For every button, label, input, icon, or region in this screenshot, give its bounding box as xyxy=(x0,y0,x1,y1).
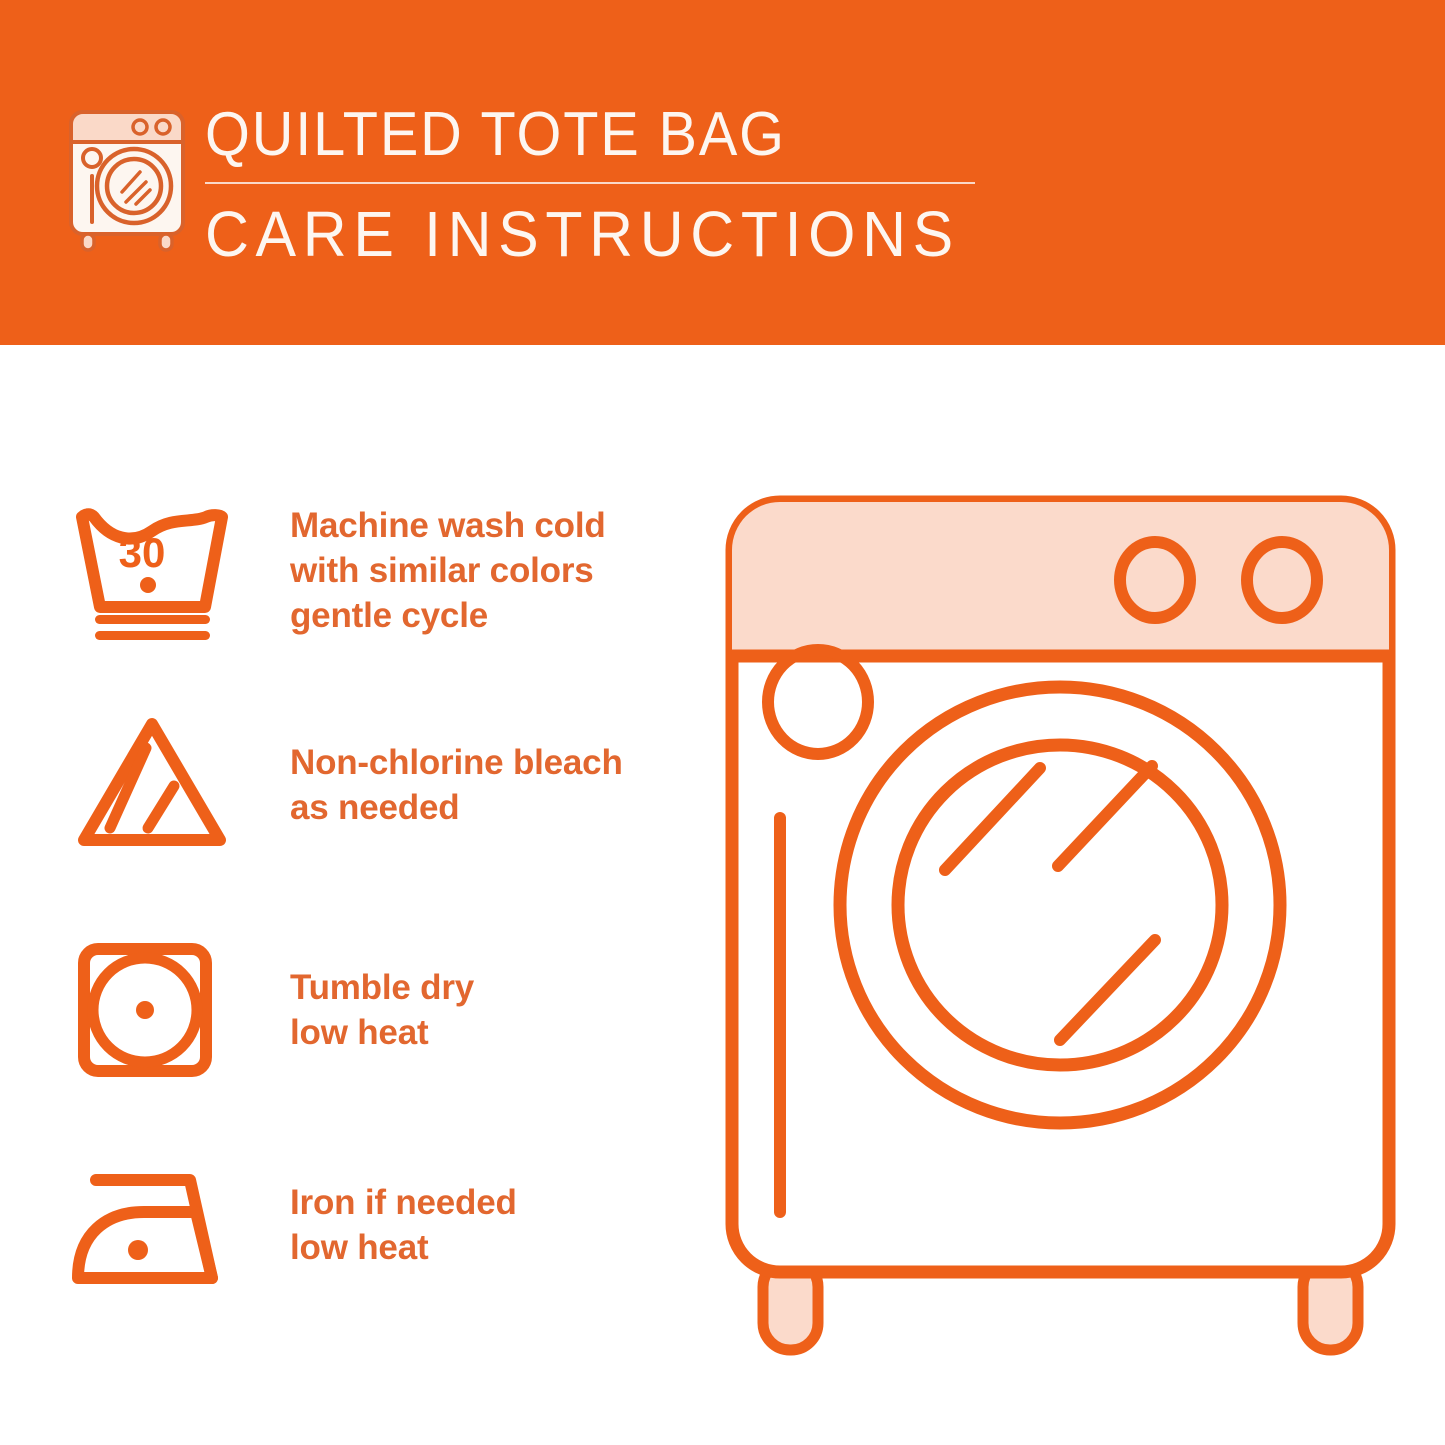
care-row-bleach: Non-chlorine bleach as needed xyxy=(70,710,690,860)
care-row-iron: Iron if needed low heat xyxy=(70,1150,690,1300)
page-subtitle: CARE INSTRUCTIONS xyxy=(205,198,965,270)
care-instructions-page: QUILTED TOTE BAG CARE INSTRUCTIONS 30 xyxy=(0,0,1445,1445)
header-text-block: QUILTED TOTE BAG CARE INSTRUCTIONS xyxy=(205,100,1005,270)
care-text-iron: Iron if needed low heat xyxy=(290,1180,517,1270)
care-row-machine-wash: 30 Machine wash cold with similar colors… xyxy=(70,495,690,645)
large-washing-machine-illustration xyxy=(700,470,1400,1390)
non-chlorine-bleach-triangle-icon xyxy=(70,710,235,860)
care-instruction-list: 30 Machine wash cold with similar colors… xyxy=(0,345,700,1445)
care-text-tumble-dry: Tumble dry low heat xyxy=(290,965,474,1055)
washing-machine-icon xyxy=(62,100,192,252)
header-band: QUILTED TOTE BAG CARE INSTRUCTIONS xyxy=(0,0,1445,345)
care-text-machine-wash: Machine wash cold with similar colors ge… xyxy=(290,503,606,638)
title-divider xyxy=(205,182,975,184)
page-title: QUILTED TOTE BAG xyxy=(205,100,949,170)
svg-text:30: 30 xyxy=(119,529,166,576)
iron-low-heat-icon xyxy=(70,1150,235,1300)
care-row-tumble-dry: Tumble dry low heat xyxy=(70,935,690,1085)
care-text-bleach: Non-chlorine bleach as needed xyxy=(290,740,623,830)
wash-tub-30-icon: 30 xyxy=(70,495,235,645)
tumble-dry-low-icon xyxy=(70,935,235,1085)
